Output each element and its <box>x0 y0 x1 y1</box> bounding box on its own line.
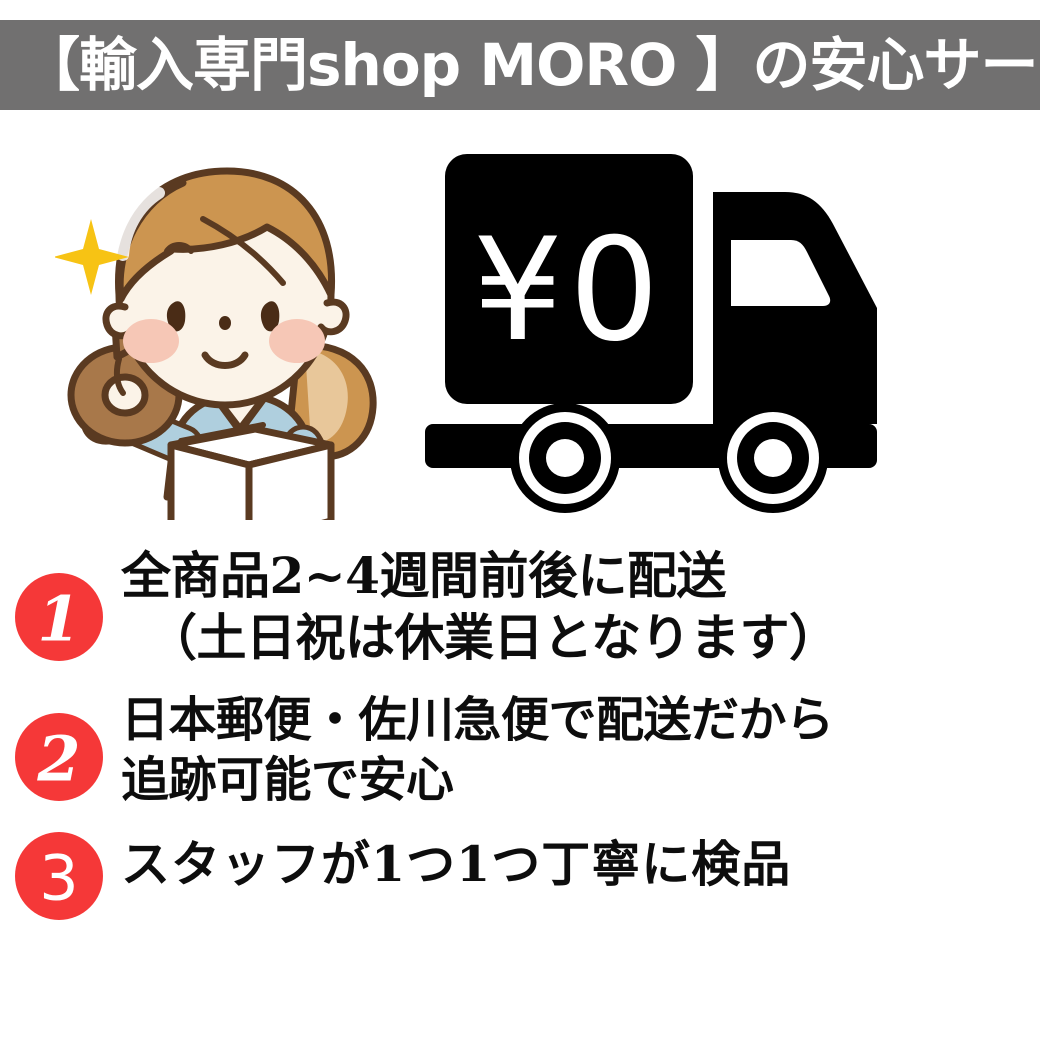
right-cheek <box>269 319 325 363</box>
truck-cab <box>713 192 877 424</box>
free-shipping-truck-icon: ¥0 <box>425 140 955 520</box>
service-item-3: 3 スタッフが1つ1つ丁寧に検品 <box>0 828 1040 922</box>
number-badge-2: 2 <box>13 711 105 803</box>
woman-packing-box-illustration <box>55 145 425 520</box>
number-badge-1: 1 <box>13 571 105 663</box>
badge-number-3: 3 <box>39 842 78 915</box>
badge-number-1: 1 <box>37 583 80 656</box>
service-line: 追跡可能で安心 <box>121 751 1040 811</box>
service-line: （土日祝は休業日となります） <box>121 607 1040 669</box>
left-cheek <box>123 319 179 363</box>
service-item-2: 2 日本郵便・佐川急便で配送だから 追跡可能で安心 <box>0 691 1040 810</box>
service-text-1: 全商品2~4週間前後に配送 （土日祝は休業日となります） <box>105 545 1040 669</box>
truck-price-label: ¥0 <box>473 208 666 373</box>
service-line: 全商品2~4週間前後に配送 <box>121 545 1040 607</box>
header-banner: 【輸入専門shop MORO 】の安心サービス <box>0 20 1040 110</box>
page-title: 【輸入専門shop MORO 】の安心サービス <box>0 36 1040 94</box>
service-item-1: 1 全商品2~4週間前後に配送 （土日祝は休業日となります） <box>0 545 1040 669</box>
nose <box>219 316 231 330</box>
service-line: スタッフが1つ1つ丁寧に検品 <box>121 834 1040 895</box>
badge-number-2: 2 <box>36 723 80 796</box>
service-text-3: スタッフが1つ1つ丁寧に検品 <box>105 828 1040 895</box>
service-list: 1 全商品2~4週間前後に配送 （土日祝は休業日となります） 2 日本郵便・佐川… <box>0 545 1040 936</box>
number-badge-3: 3 <box>13 830 105 922</box>
cardboard-box <box>171 425 331 520</box>
service-line: 日本郵便・佐川急便で配送だから <box>121 691 1040 751</box>
service-text-2: 日本郵便・佐川急便で配送だから 追跡可能で安心 <box>105 691 1040 810</box>
illustration-band: ¥0 <box>0 120 1040 530</box>
